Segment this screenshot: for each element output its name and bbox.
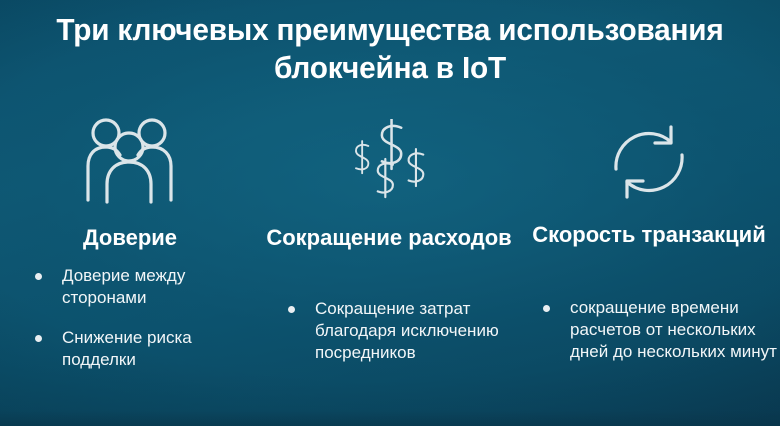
bullet-dot-icon [288,306,295,313]
sync-arrows-icon [518,118,780,206]
bullet-text: Снижение риска подделки [62,327,245,371]
benefit-heading: Скорость транзакций [518,221,780,248]
bullet-dot-icon [35,273,42,280]
benefit-heading: Доверие [0,224,260,251]
bullet-text: Доверие между сторонами [62,265,245,309]
benefit-bullet-list: сокращение времени расчетов от нескольки… [538,297,778,363]
bullet-text: Сокращение затрат благодаря исключению п… [315,298,513,364]
list-item: сокращение времени расчетов от нескольки… [538,297,778,363]
bullet-dot-icon [35,335,42,342]
list-item: Сокращение затрат благодаря исключению п… [283,298,513,364]
bullet-dot-icon [543,305,550,312]
benefit-bullet-list: Сокращение затрат благодаря исключению п… [283,298,513,364]
benefit-bullet-list: Доверие между сторонами Снижение риска п… [30,265,245,371]
dollar-signs-icon [258,116,520,208]
list-item: Доверие между сторонами [30,265,245,309]
bullet-text: сокращение времени расчетов от нескольки… [570,297,778,363]
people-group-icon [0,114,260,206]
list-item: Снижение риска подделки [30,327,245,371]
benefit-heading: Сокращение расходов [258,224,520,251]
slide-canvas: Три ключевых преимущества использования … [0,0,780,426]
benefit-columns: Доверие Доверие между сторонами Снижение… [0,0,780,426]
